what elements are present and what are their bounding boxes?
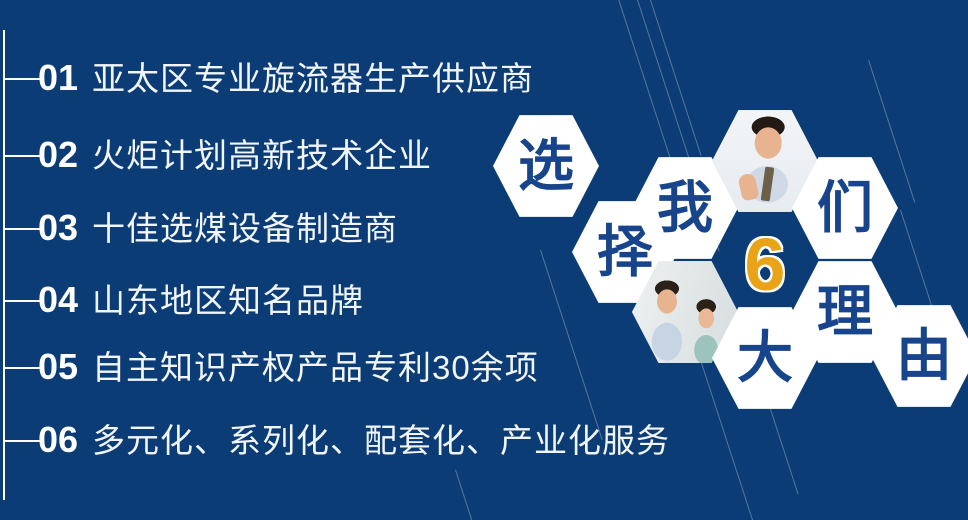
list-item: 06 多元化、系列化、配套化、产业化服务 (38, 422, 670, 458)
list-item-number: 05 (38, 349, 78, 385)
hex-glyph: 择 (597, 224, 653, 280)
list-item-label: 火炬计划高新技术企业 (92, 139, 432, 172)
list-item: 04 山东地区知名品牌 (38, 282, 364, 318)
list-item-number: 01 (38, 60, 78, 96)
hex-glyph: 理 (817, 284, 873, 340)
list-item-number: 06 (38, 422, 78, 458)
list-item-label: 自主知识产权产品专利30余项 (92, 351, 539, 384)
hex-glyph: 们 (817, 180, 873, 236)
hex-glyph: 由 (896, 328, 952, 384)
list-item-number: 03 (38, 210, 78, 246)
list-item: 02 火炬计划高新技术企业 (38, 137, 432, 173)
list-item: 01 亚太区专业旋流器生产供应商 (38, 60, 534, 96)
list-item-label: 十佳选煤设备制造商 (92, 212, 398, 245)
list-item-number: 04 (38, 282, 78, 318)
decor-diagonal-line (648, 0, 701, 156)
list-item: 05 自主知识产权产品专利30余项 (38, 349, 539, 385)
list-item-number: 02 (38, 137, 78, 173)
feature-list: 01 亚太区专业旋流器生产供应商 02 火炬计划高新技术企业 03 十佳选煤设备… (0, 0, 640, 520)
banner-canvas: 01 亚太区专业旋流器生产供应商 02 火炬计划高新技术企业 03 十佳选煤设备… (0, 0, 968, 520)
list-item-label: 亚太区专业旋流器生产供应商 (92, 62, 534, 95)
list-item: 03 十佳选煤设备制造商 (38, 210, 398, 246)
hex-glyph: 大 (737, 330, 793, 386)
list-item-label: 多元化、系列化、配套化、产业化服务 (92, 424, 670, 457)
hex-glyph-six: 6 (744, 228, 785, 302)
list-item-label: 山东地区知名品牌 (92, 284, 364, 317)
hex-glyph: 我 (657, 180, 713, 236)
hex-glyph: 选 (518, 138, 574, 194)
